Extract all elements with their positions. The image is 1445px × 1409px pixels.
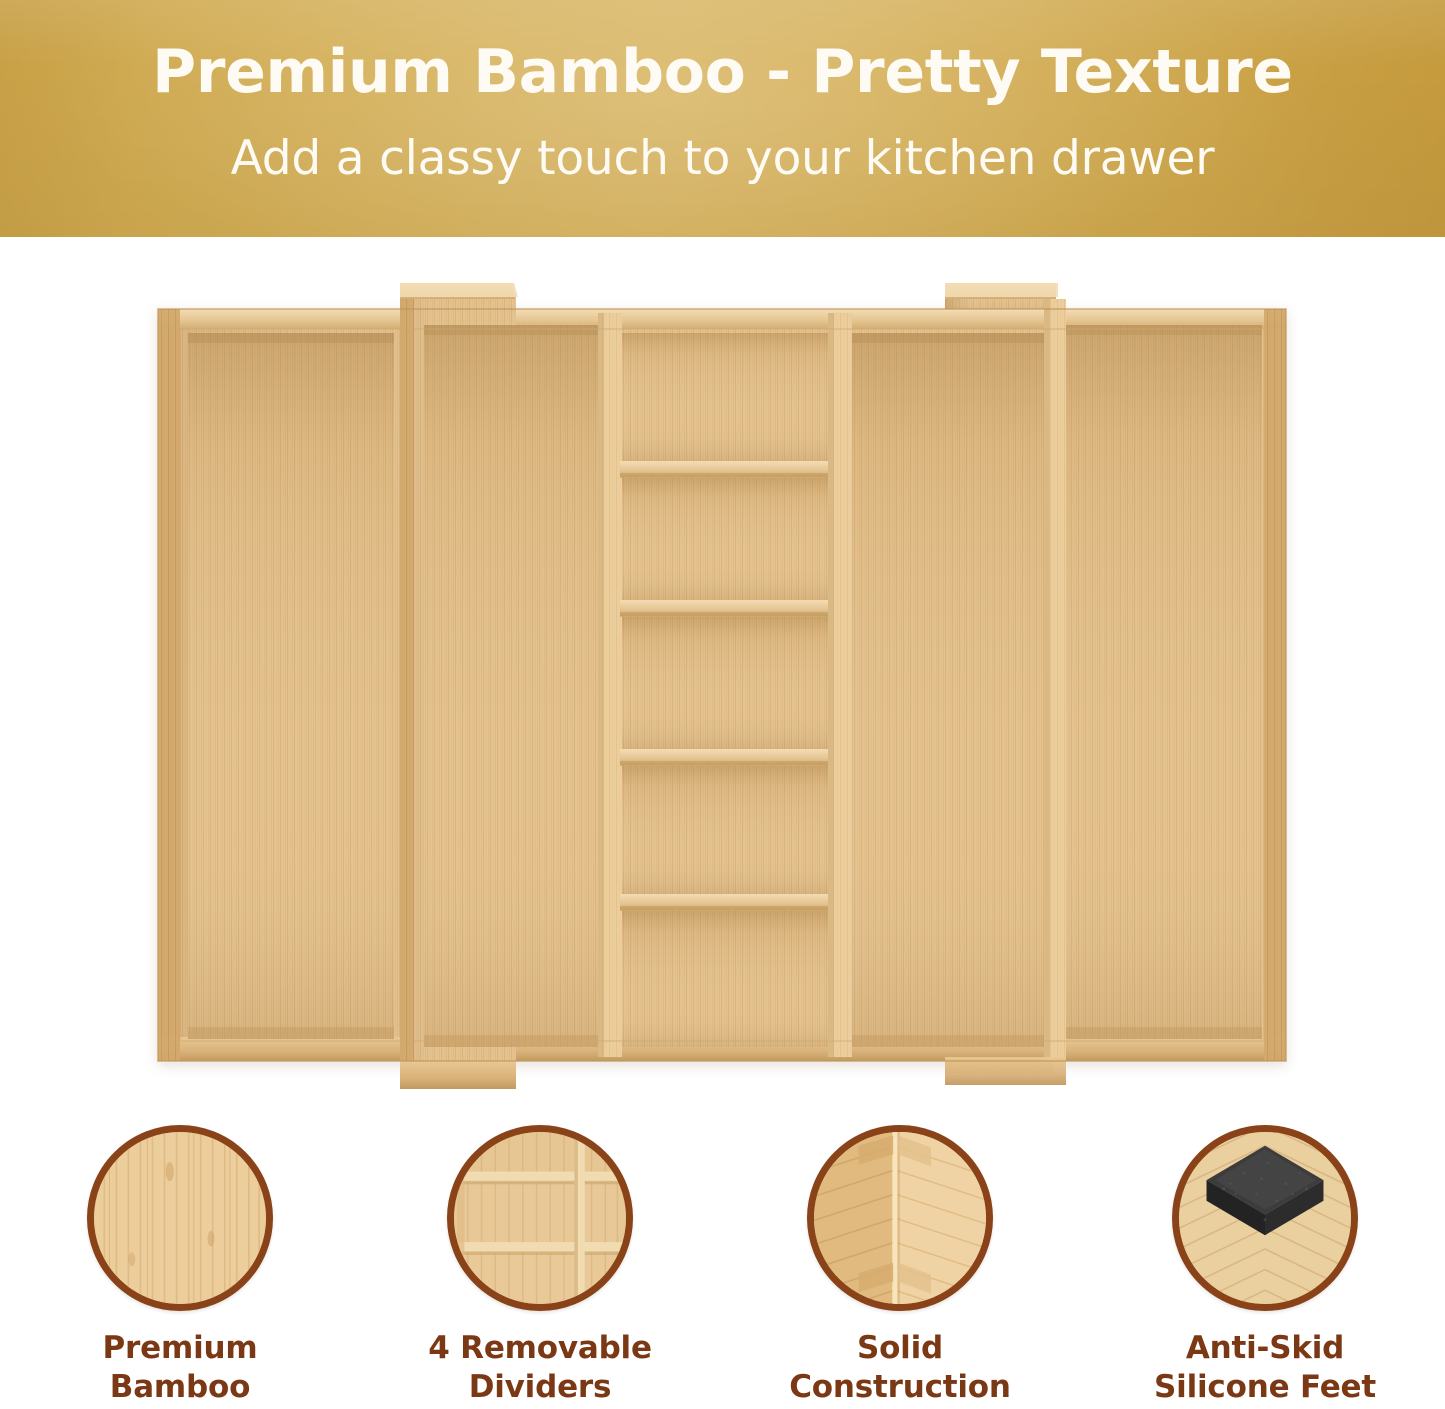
tray-right-wall — [1264, 309, 1286, 1061]
feature-item-premium-bamboo: Premium Bamboo — [30, 1099, 330, 1409]
feature-label-line1: 4 Removable — [390, 1329, 690, 1368]
compartment-second-wide — [424, 325, 598, 1047]
feature-label-line1: Anti-Skid — [1115, 1329, 1415, 1368]
right-slider-top-tab — [945, 283, 1058, 297]
silicone-foot-icon — [1172, 1125, 1358, 1311]
tray-left-wall — [158, 309, 180, 1061]
dividers-icon — [447, 1125, 633, 1311]
feature-label-solid-construction: Solid Construction — [750, 1329, 1050, 1407]
product-hero-image — [0, 237, 1445, 1099]
bamboo-grain-icon — [87, 1125, 273, 1311]
bamboo-drawer-organizer-illustration — [0, 237, 1445, 1099]
compartment-left-wide — [188, 333, 394, 1039]
feature-item-silicone-feet: Anti-Skid Silicone Feet — [1115, 1099, 1415, 1409]
banner-title: Premium Bamboo - Pretty Texture — [0, 36, 1445, 108]
left-slider-top-tab — [400, 283, 518, 297]
feature-item-solid-construction: Solid Construction — [750, 1099, 1050, 1409]
feature-label-line2: Construction — [750, 1368, 1050, 1407]
feature-highlights-row: Premium Bamboo — [0, 1099, 1445, 1409]
feature-label-line2: Dividers — [390, 1368, 690, 1407]
compartment-right-middle — [852, 333, 1044, 1047]
feature-label-removable-dividers: 4 Removable Dividers — [390, 1329, 690, 1407]
feature-label-line1: Premium — [30, 1329, 330, 1368]
feature-label-premium-bamboo: Premium Bamboo — [30, 1329, 330, 1407]
center-slim-column — [620, 333, 830, 1047]
feature-label-line2: Silicone Feet — [1115, 1368, 1415, 1407]
feature-label-line1: Solid — [750, 1329, 1050, 1368]
compartment-right-wide — [1066, 325, 1262, 1039]
corner-joint-icon — [807, 1125, 993, 1311]
feature-label-line2: Bamboo — [30, 1368, 330, 1407]
feature-item-removable-dividers: 4 Removable Dividers — [390, 1099, 690, 1409]
product-infographic-page: Premium Bamboo - Pretty Texture Add a cl… — [0, 0, 1445, 1409]
banner-subtitle: Add a classy touch to your kitchen drawe… — [0, 130, 1445, 188]
feature-label-silicone-feet: Anti-Skid Silicone Feet — [1115, 1329, 1415, 1407]
header-banner: Premium Bamboo - Pretty Texture Add a cl… — [0, 0, 1445, 237]
